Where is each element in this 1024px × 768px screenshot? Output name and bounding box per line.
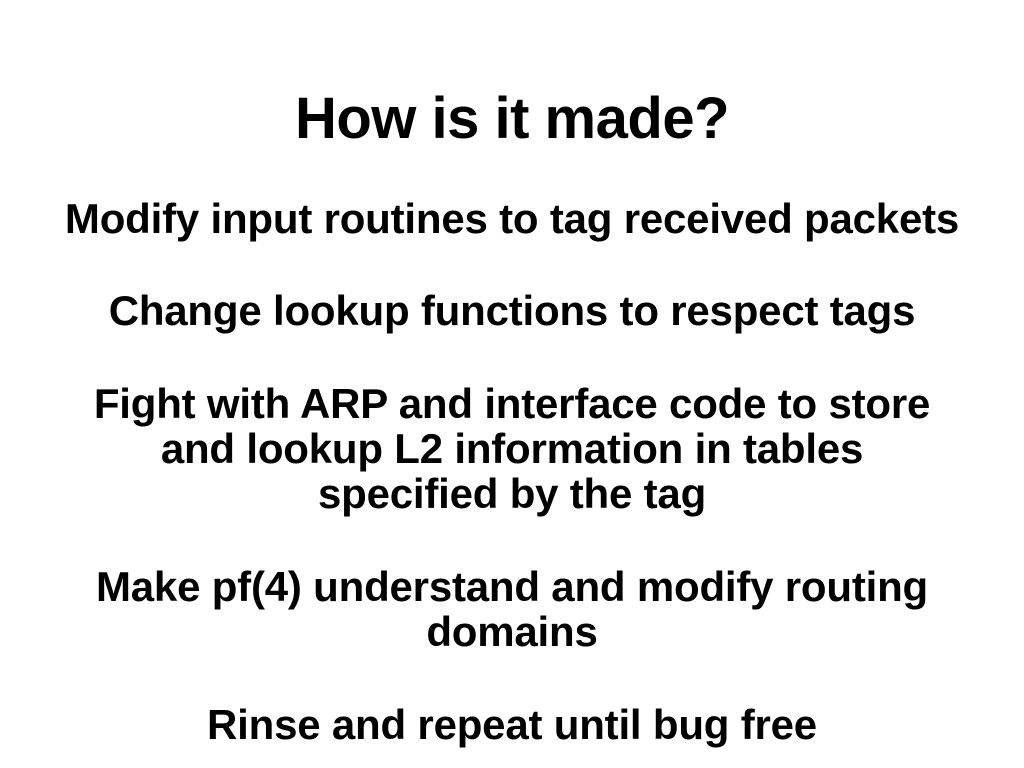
slide-title: How is it made?	[0, 88, 1024, 149]
slide-bullet-line: Fight with ARP and interface code to sto…	[77, 381, 947, 517]
slide-bullet-line: Rinse and repeat until bug free	[48, 702, 976, 747]
slide-bullet-line: Change lookup functions to respect tags	[48, 288, 976, 333]
slide-bullet-line: Modify input routines to tag received pa…	[48, 196, 976, 241]
slide-body: Modify input routines to tag received pa…	[0, 196, 1024, 747]
slide-bullet-line: Make pf(4) understand and modify routing…	[48, 564, 976, 655]
presentation-slide: How is it made? Modify input routines to…	[0, 0, 1024, 768]
